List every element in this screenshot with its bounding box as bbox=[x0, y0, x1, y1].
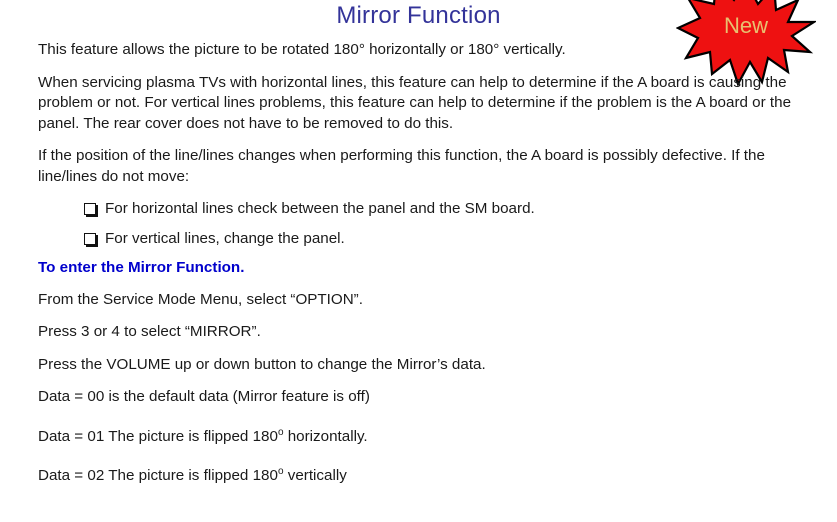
list-item-label: For vertical lines, change the panel. bbox=[105, 230, 345, 247]
step-select-option: From the Service Mode Menu, select “OPTI… bbox=[38, 290, 798, 311]
data-value-02: Data = 02 The picture is flipped 180o ve… bbox=[38, 466, 798, 487]
step-select-mirror: Press 3 or 4 to select “MIRROR”. bbox=[38, 322, 798, 343]
diagnosis-paragraph: If the position of the line/lines change… bbox=[38, 146, 786, 187]
slide-canvas: Mirror Function New This feature allows … bbox=[0, 0, 837, 522]
box-bullet-icon bbox=[84, 203, 96, 215]
list-item: For horizontal lines check between the p… bbox=[38, 199, 798, 220]
data-value-02-text: Data = 02 The picture is flipped 180 bbox=[38, 467, 278, 484]
list-item: For vertical lines, change the panel. bbox=[38, 229, 798, 250]
data-value-00-text: Data = 00 is the default data (Mirror fe… bbox=[38, 388, 370, 405]
intro-paragraph: This feature allows the picture to be ro… bbox=[38, 40, 786, 61]
check-bullet-list: For horizontal lines check between the p… bbox=[38, 199, 798, 249]
slide-body: This feature allows the picture to be ro… bbox=[38, 40, 798, 506]
servicing-paragraph: When servicing plasma TVs with horizonta… bbox=[38, 73, 793, 135]
step-change-data: Press the VOLUME up or down button to ch… bbox=[38, 355, 798, 376]
list-item-label: For horizontal lines check between the p… bbox=[105, 200, 535, 217]
data-value-01: Data = 01 The picture is flipped 180o ho… bbox=[38, 427, 798, 448]
data-value-01-text: Data = 01 The picture is flipped 180 bbox=[38, 428, 278, 445]
data-value-00: Data = 00 is the default data (Mirror fe… bbox=[38, 387, 798, 408]
data-value-02-suffix: vertically bbox=[284, 467, 347, 484]
box-bullet-icon bbox=[84, 233, 96, 245]
enter-mirror-subheading: To enter the Mirror Function. bbox=[38, 258, 798, 279]
data-value-01-suffix: horizontally. bbox=[284, 428, 368, 445]
